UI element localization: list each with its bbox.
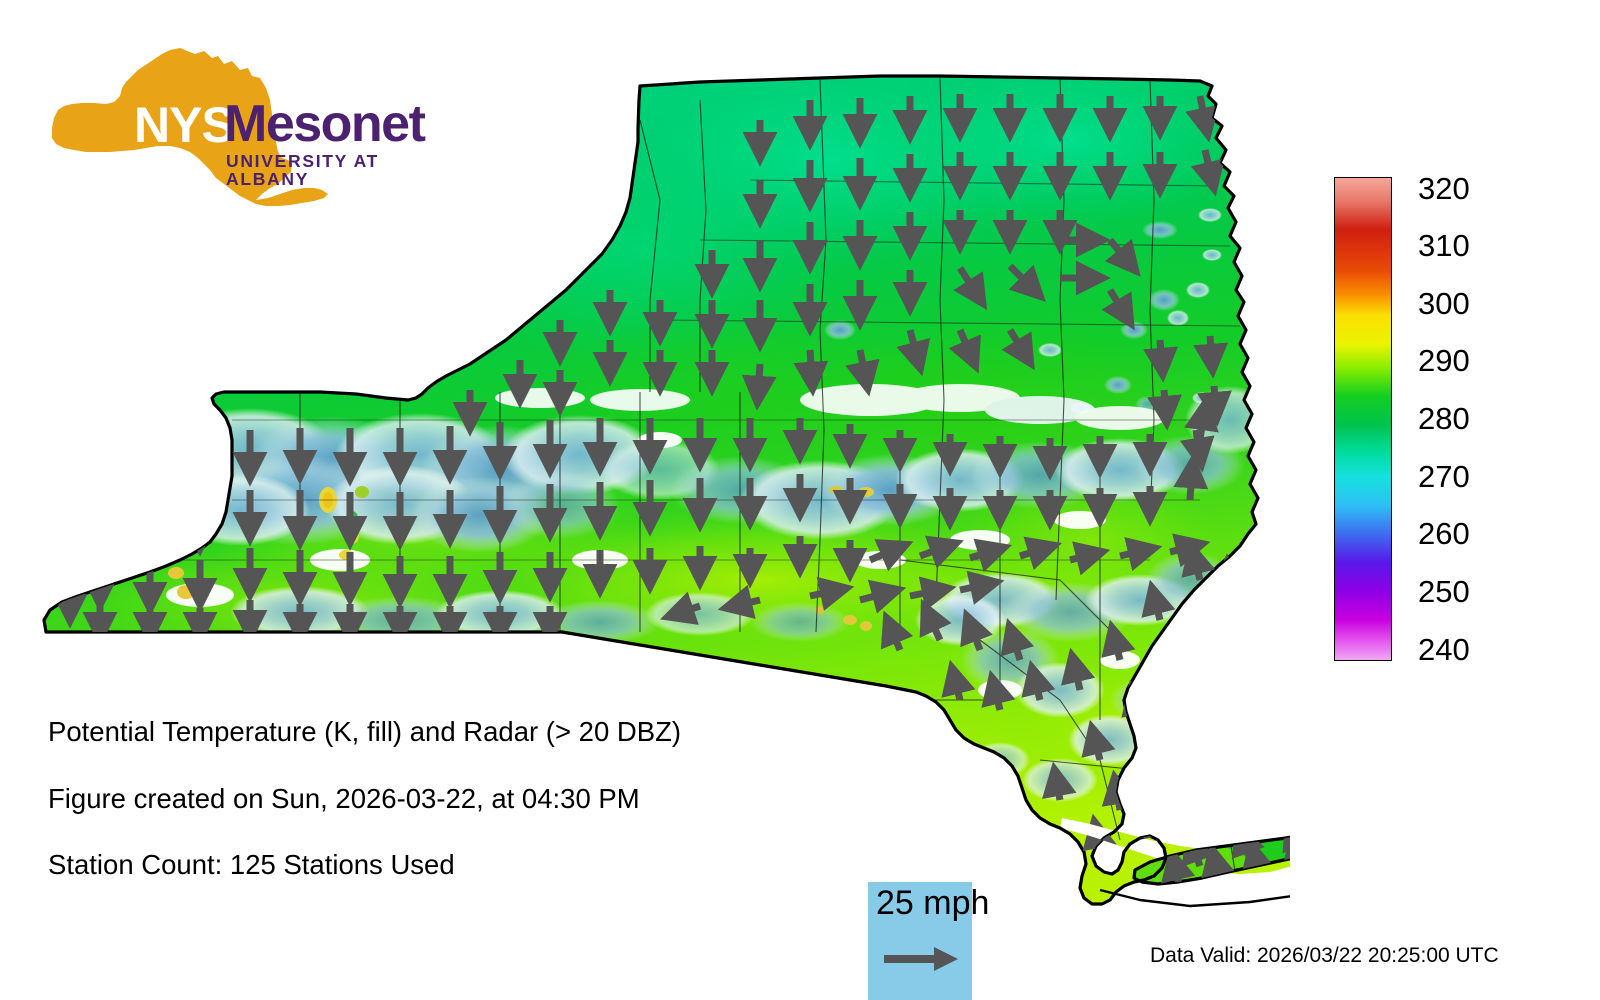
data-valid-timestamp: Data Valid: 2026/03/22 20:25:00 UTC [1150, 945, 1499, 966]
wind-speed-legend: 25 mph [868, 882, 972, 1000]
wind-legend-label: 25 mph [876, 886, 989, 920]
figure-created-text: Figure created on Sun, 2026-03-22, at 04… [48, 785, 878, 813]
caption-block: Potential Temperature (K, fill) and Rada… [48, 718, 878, 918]
colorbar-tick-280: 280 [1418, 403, 1470, 434]
colorbar-tick-300: 300 [1418, 288, 1470, 319]
colorbar-tick-320: 320 [1418, 173, 1470, 204]
station-count-text: Station Count: 125 Stations Used [48, 851, 878, 879]
colorbar-tick-310: 310 [1418, 230, 1470, 261]
arrow-right-icon [884, 944, 960, 974]
colorbar-tick-240: 240 [1418, 634, 1470, 665]
colorbar-tick-290: 290 [1418, 345, 1470, 376]
figure-title: Potential Temperature (K, fill) and Rada… [48, 718, 878, 746]
colorbar-tick-260: 260 [1418, 518, 1470, 549]
colorbar [1334, 177, 1392, 661]
colorbar-tick-270: 270 [1418, 461, 1470, 492]
colorbar-tick-labels: 320310300290280270260250240 [1418, 160, 1528, 680]
colorbar-tick-250: 250 [1418, 576, 1470, 607]
